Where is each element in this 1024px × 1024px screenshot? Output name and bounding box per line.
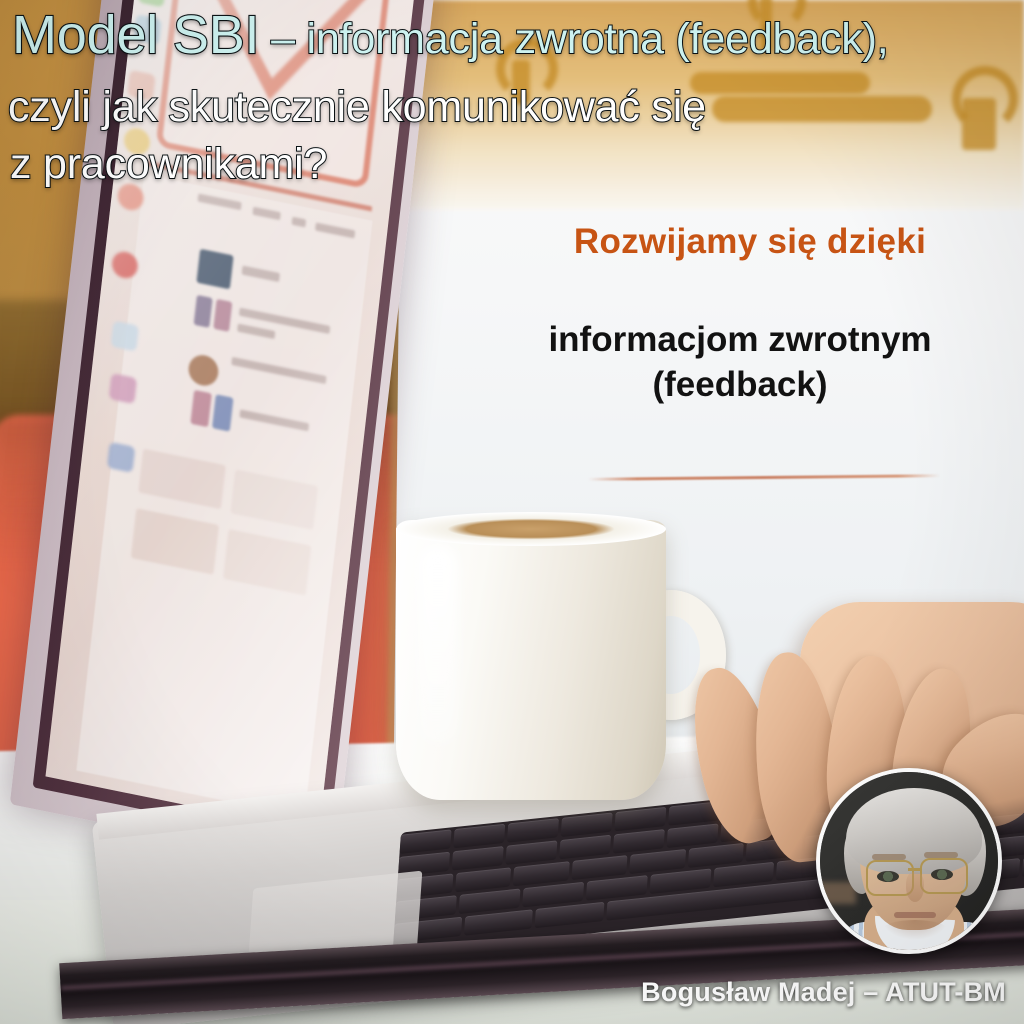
board-headline: Rozwijamy się dzięki bbox=[500, 222, 1000, 262]
keyboard-key bbox=[506, 840, 558, 865]
screen-list-thumbnail bbox=[194, 295, 213, 328]
presenter-avatar bbox=[816, 768, 1002, 954]
keyboard-key bbox=[615, 807, 667, 832]
keyboard-key bbox=[561, 812, 613, 837]
app-icon bbox=[111, 321, 140, 352]
title-line-1-rest: – informacja zwrotna (feedback), bbox=[259, 15, 888, 63]
slide-canvas: Rozwijamy się dzięki informacjom zwrotny… bbox=[0, 0, 1024, 1024]
avatar-eye-left bbox=[877, 871, 899, 882]
keyboard-key bbox=[522, 882, 584, 908]
avatar-nose bbox=[906, 872, 924, 902]
screen-list-thumbnail bbox=[190, 390, 212, 427]
keyboard-key bbox=[455, 867, 512, 892]
keyboard-key bbox=[559, 835, 611, 860]
keyboard-key bbox=[513, 861, 570, 886]
keyboard-key bbox=[613, 829, 665, 854]
avatar-glasses-bridge bbox=[908, 868, 922, 871]
title-line-3: z pracownikami? bbox=[10, 143, 1024, 187]
keyboard-key bbox=[535, 902, 604, 928]
screen-list-thumbnail bbox=[213, 299, 232, 332]
keyboard-key bbox=[458, 889, 520, 915]
title-line-1: Model SBI – informacja zwrotna (feedback… bbox=[12, 8, 1024, 63]
board-body-line2: (feedback) bbox=[470, 363, 1010, 408]
presenter-caption: Bogusław Madej – ATUT-BM bbox=[560, 977, 1020, 1008]
keyboard-key bbox=[400, 829, 452, 854]
keyboard-key bbox=[586, 875, 648, 901]
slide-title: Model SBI – informacja zwrotna (feedback… bbox=[8, 8, 1024, 160]
board-body: informacjom zwrotnym (feedback) bbox=[470, 318, 1010, 408]
avatar-mouth bbox=[894, 912, 936, 918]
coffee-mug-highlight bbox=[418, 545, 458, 745]
keyboard-key bbox=[629, 849, 686, 874]
keyboard-key bbox=[464, 909, 533, 935]
keyboard-key bbox=[571, 855, 628, 880]
keyboard-key bbox=[453, 824, 505, 849]
avatar-chin-shadow bbox=[882, 920, 948, 940]
avatar-eye-right bbox=[931, 869, 953, 880]
title-emphasis: Model SBI bbox=[12, 5, 259, 65]
app-icon bbox=[109, 373, 138, 404]
avatar-background-shelf bbox=[816, 882, 856, 904]
title-line-2: czyli jak skutecznie komunikować się bbox=[8, 86, 1024, 130]
coffee-mug-rim bbox=[396, 512, 666, 546]
screen-list-thumbnail bbox=[212, 394, 234, 431]
board-body-line1: informacjom zwrotnym bbox=[470, 318, 1010, 363]
keyboard-key bbox=[507, 818, 559, 843]
screen-list-thumbnail bbox=[196, 249, 233, 290]
app-icon bbox=[107, 442, 136, 473]
keyboard-key bbox=[452, 846, 504, 871]
